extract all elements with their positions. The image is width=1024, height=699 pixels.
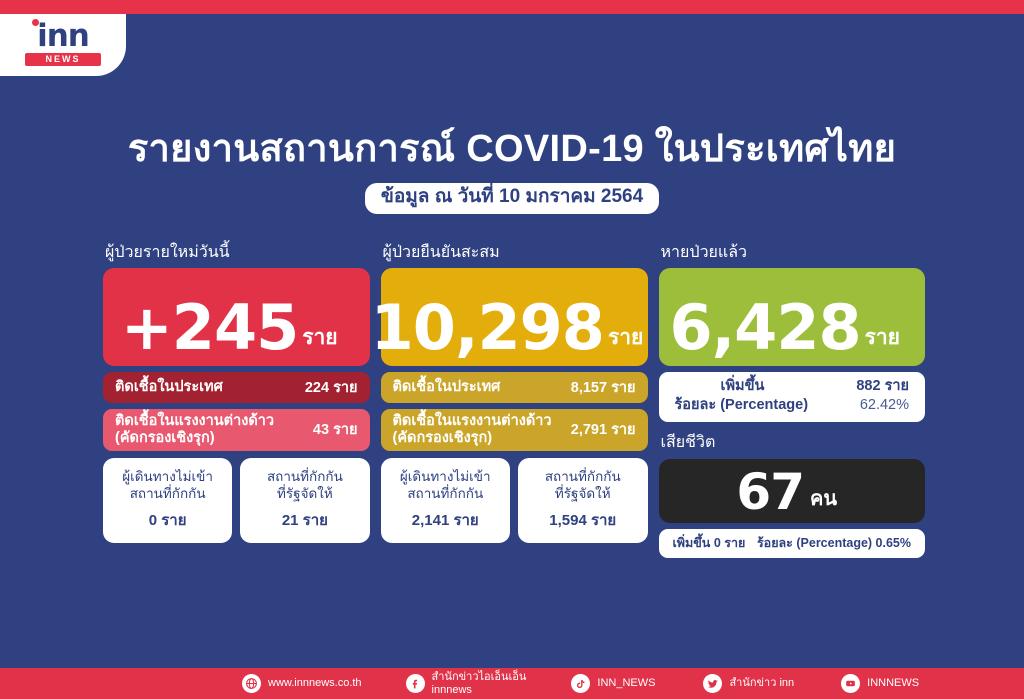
deaths-value: 67 [736, 469, 804, 517]
new-cases-no-quarantine-label-line2: สถานที่กักกัน [130, 486, 206, 501]
cumulative-no-quarantine-card: ผู้เดินทางไม่เข้า สถานที่กักกัน 2,141 รา… [381, 458, 511, 543]
logo-dot-icon [32, 19, 39, 26]
column-cumulative: ผู้ป่วยยืนยันสะสม 10,298 ราย ติดเชื้อในป… [381, 243, 648, 558]
footer-facebook-label: สำนักข่าวไอเอ็นเอ็น innnews [432, 671, 527, 697]
cumulative-state-quarantine-label-line1: สถานที่กักกัน [545, 469, 621, 484]
cumulative-state-quarantine-label: สถานที่กักกัน ที่รัฐจัดให้ [522, 468, 644, 503]
cumulative-no-quarantine-value: 2,141 ราย [385, 508, 507, 532]
new-cases-card: +245 ราย [103, 268, 370, 366]
footer-twitter-label: สำนักข่าว inn [729, 677, 794, 690]
new-cases-migrant-label-line1: ติดเชื้อในแรงงานต่างด้าว [115, 413, 274, 429]
cumulative-migrant-label: ติดเชื้อในแรงงานต่างด้าว (คัดกรองเชิงรุก… [393, 413, 552, 447]
cumulative-migrant-value: 2,791 ราย [563, 418, 636, 441]
deaths-percent-text: ร้อยละ (Percentage) 0.65% [757, 533, 911, 553]
cumulative-migrant-row: ติดเชื้อในแรงงานต่างด้าว (คัดกรองเชิงรุก… [381, 409, 648, 451]
new-cases-no-quarantine-card: ผู้เดินทางไม่เข้า สถานที่กักกัน 0 ราย [103, 458, 232, 543]
new-cases-migrant-value: 43 ราย [305, 418, 358, 441]
new-cases-state-quarantine-label-line1: สถานที่กักกัน [267, 469, 343, 484]
cumulative-card: 10,298 ราย [381, 268, 648, 366]
logo-word-text: inn [37, 18, 89, 54]
deaths-card: 67 คน [659, 459, 926, 523]
new-cases-state-quarantine-card: สถานที่กักกัน ที่รัฐจัดให้ 21 ราย [240, 458, 369, 543]
title-block: รายงานสถานการณ์ COVID-19 ในประเทศไทย ข้อ… [0, 126, 1024, 214]
new-cases-domestic-value: 224 ราย [297, 376, 358, 399]
recovered-percent-value: 62.42% [860, 396, 909, 416]
recovered-increase-line: เพิ่มขึ้น 882 ราย [675, 377, 910, 397]
column-recovered-header: หายป่วยแล้ว [659, 243, 926, 264]
recovered-stats-panel: เพิ่มขึ้น 882 ราย ร้อยละ (Percentage) 62… [659, 372, 926, 422]
recovered-unit: ราย [865, 321, 900, 354]
column-cumulative-header: ผู้ป่วยยืนยันสะสม [381, 243, 648, 264]
recovered-increase-label: เพิ่มขึ้น [675, 377, 765, 397]
footer-tiktok-label: INN_NEWS [597, 677, 655, 690]
new-cases-value: +245 [121, 299, 298, 358]
cumulative-migrant-label-line1: ติดเชื้อในแรงงานต่างด้าว [393, 413, 552, 429]
new-cases-unit: ราย [302, 321, 337, 354]
deaths-stats-panel: เพิ่มขึ้น 0 ราย ร้อยละ (Percentage) 0.65… [659, 529, 926, 558]
column-deaths-header: เสียชีวิต [659, 430, 926, 455]
footer-website-label: www.innnews.co.th [268, 677, 362, 690]
stats-columns: ผู้ป่วยรายใหม่วันนี้ +245 ราย ติดเชื้อใน… [103, 243, 925, 558]
cumulative-state-quarantine-value: 1,594 ราย [522, 508, 644, 532]
youtube-icon [841, 674, 860, 693]
globe-icon [242, 674, 261, 693]
cumulative-unit: ราย [608, 321, 643, 354]
deaths-unit: คน [810, 482, 837, 514]
cumulative-domestic-row: ติดเชื้อในประเทศ 8,157 ราย [381, 372, 648, 403]
recovered-increase-value: 882 ราย [856, 377, 909, 397]
new-cases-no-quarantine-label-line1: ผู้เดินทางไม่เข้า [122, 469, 213, 484]
cumulative-value: 10,298 [371, 299, 604, 358]
cumulative-no-quarantine-label: ผู้เดินทางไม่เข้า สถานที่กักกัน [385, 468, 507, 503]
cumulative-migrant-label-line2: (คัดกรองเชิงรุก) [393, 430, 493, 446]
footer-facebook[interactable]: สำนักข่าวไอเอ็นเอ็น innnews [406, 671, 527, 697]
footer-facebook-line2: innnews [432, 684, 527, 697]
recovered-percent-line: ร้อยละ (Percentage) 62.42% [675, 396, 910, 416]
recovered-card: 6,428 ราย [659, 268, 926, 366]
facebook-icon [406, 674, 425, 693]
new-cases-migrant-label: ติดเชื้อในแรงงานต่างด้าว (คัดกรองเชิงรุก… [115, 413, 274, 447]
footer-youtube-label: INNNEWS [867, 677, 919, 690]
column-new-cases-header: ผู้ป่วยรายใหม่วันนี้ [103, 243, 370, 264]
cumulative-state-quarantine-label-line2: ที่รัฐจัดให้ [555, 486, 611, 501]
inn-news-logo: inn NEWS [0, 14, 126, 76]
footer-website[interactable]: www.innnews.co.th [242, 674, 362, 693]
new-cases-migrant-row: ติดเชื้อในแรงงานต่างด้าว (คัดกรองเชิงรุก… [103, 409, 370, 451]
cumulative-domestic-value: 8,157 ราย [563, 376, 636, 399]
deaths-increase-text: เพิ่มขึ้น 0 ราย [673, 533, 746, 553]
cumulative-state-quarantine-card: สถานที่กักกัน ที่รัฐจัดให้ 1,594 ราย [518, 458, 648, 543]
page-title: รายงานสถานการณ์ COVID-19 ในประเทศไทย [0, 126, 1024, 172]
logo-news-tag: NEWS [25, 53, 101, 66]
tiktok-icon [571, 674, 590, 693]
column-new-cases: ผู้ป่วยรายใหม่วันนี้ +245 ราย ติดเชื้อใน… [103, 243, 370, 558]
new-cases-domestic-label: ติดเชื้อในประเทศ [115, 379, 223, 396]
column-recovered-deaths: หายป่วยแล้ว 6,428 ราย เพิ่มขึ้น 882 ราย … [659, 243, 926, 558]
new-cases-domestic-row: ติดเชื้อในประเทศ 224 ราย [103, 372, 370, 403]
new-cases-state-quarantine-label-line2: ที่รัฐจัดให้ [277, 486, 333, 501]
top-accent-bar [0, 0, 1024, 14]
report-date-badge: ข้อมูล ณ วันที่ 10 มกราคม 2564 [365, 183, 659, 214]
cumulative-no-quarantine-label-line2: สถานที่กักกัน [407, 486, 483, 501]
cumulative-domestic-label: ติดเชื้อในประเทศ [393, 379, 501, 396]
twitter-icon [703, 674, 722, 693]
footer-youtube[interactable]: INNNEWS [841, 674, 919, 693]
new-cases-migrant-label-line2: (คัดกรองเชิงรุก) [115, 430, 215, 446]
logo-wordmark: inn [25, 22, 101, 51]
footer-tiktok[interactable]: INN_NEWS [571, 674, 655, 693]
recovered-value: 6,428 [669, 299, 860, 358]
new-cases-state-quarantine-value: 21 ราย [244, 508, 365, 532]
footer-twitter[interactable]: สำนักข่าว inn [703, 674, 794, 693]
new-cases-mini-row: ผู้เดินทางไม่เข้า สถานที่กักกัน 0 ราย สถ… [103, 458, 370, 543]
social-footer: www.innnews.co.th สำนักข่าวไอเอ็นเอ็น in… [0, 668, 1024, 699]
footer-facebook-line1: สำนักข่าวไอเอ็นเอ็น [432, 671, 527, 683]
new-cases-state-quarantine-label: สถานที่กักกัน ที่รัฐจัดให้ [244, 468, 365, 503]
new-cases-no-quarantine-value: 0 ราย [107, 508, 228, 532]
recovered-percent-label: ร้อยละ (Percentage) [675, 396, 809, 416]
new-cases-no-quarantine-label: ผู้เดินทางไม่เข้า สถานที่กักกัน [107, 468, 228, 503]
cumulative-no-quarantine-label-line1: ผู้เดินทางไม่เข้า [400, 469, 491, 484]
cumulative-mini-row: ผู้เดินทางไม่เข้า สถานที่กักกัน 2,141 รา… [381, 458, 648, 543]
